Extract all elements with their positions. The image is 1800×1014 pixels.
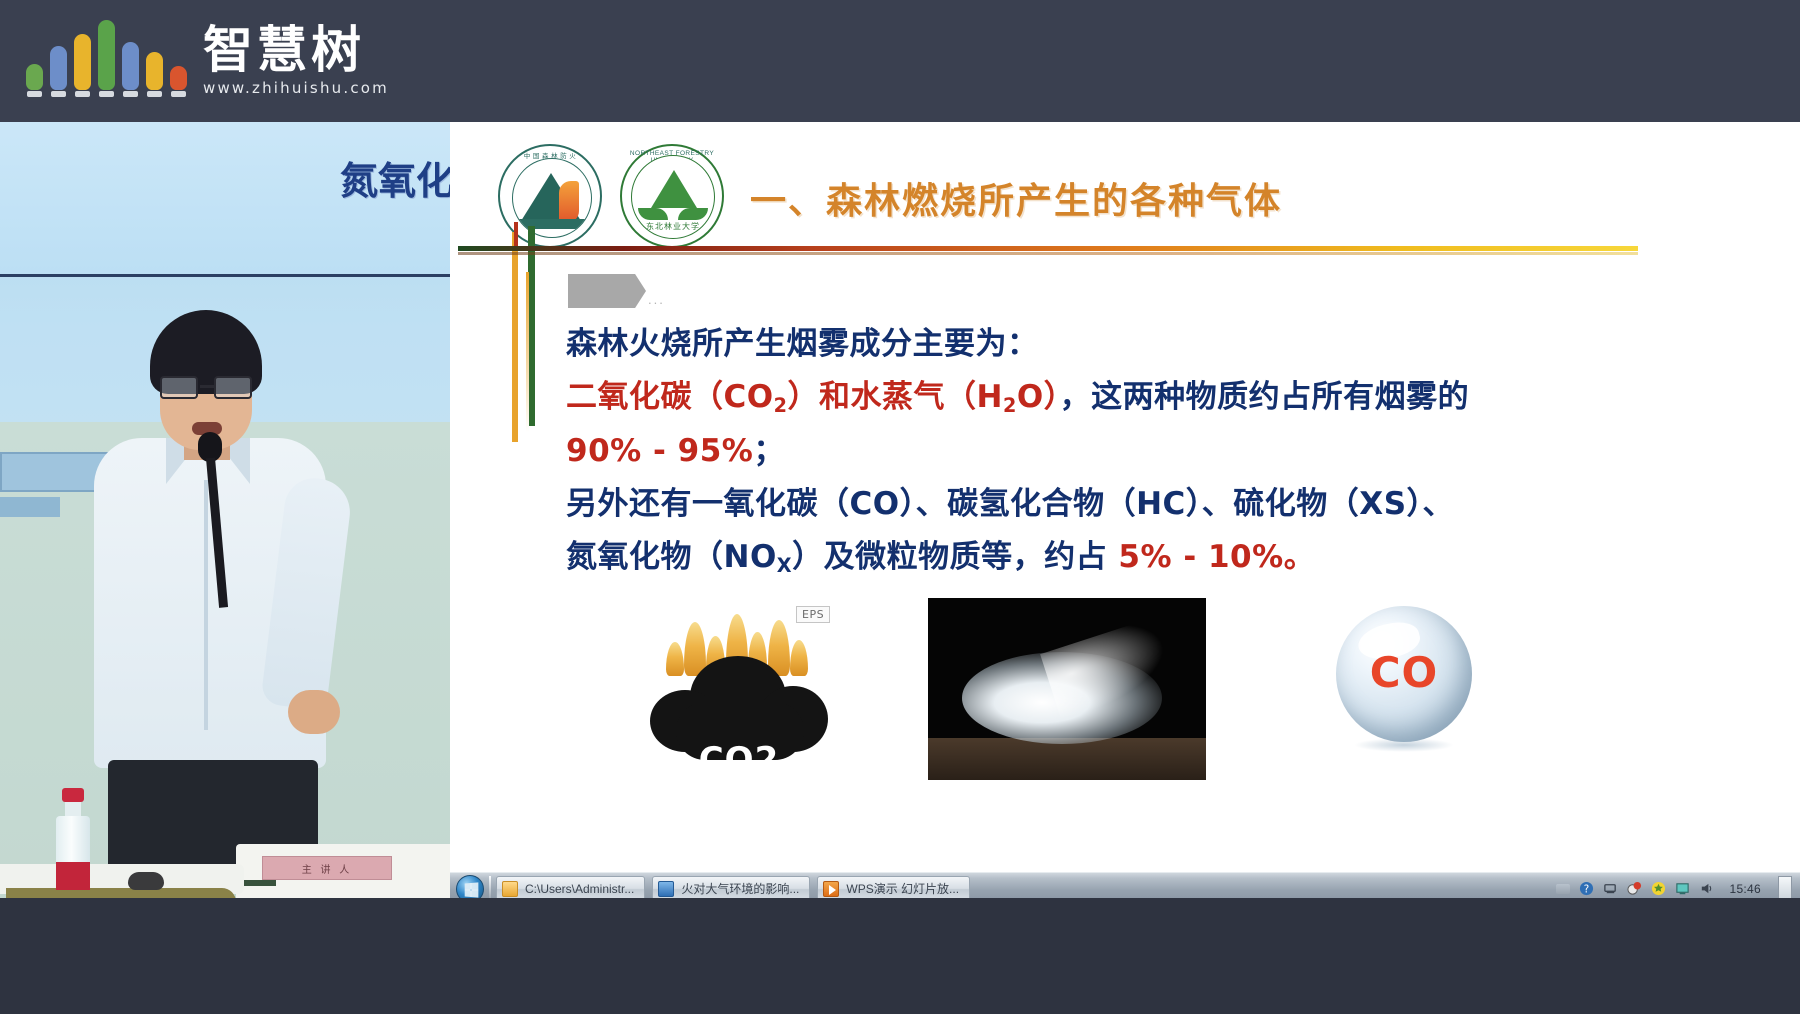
- slide-body-span: ）及微粒物质等，约占: [792, 539, 1118, 575]
- start-button-icon[interactable]: [456, 875, 484, 899]
- lecturer-video-pane[interactable]: 氮氧化: [0, 122, 450, 898]
- brand-header: 智慧树 www.zhihuishu.com: [0, 0, 1800, 122]
- taskbar-item-presentation[interactable]: 火对大气环境的影响...: [652, 876, 810, 899]
- mouse-device: [128, 872, 164, 890]
- slide-body-span: 氮氧化物（NO: [566, 539, 777, 575]
- slide-body-span: 2: [774, 394, 788, 417]
- slide-body-span: 二氧化碳（CO: [566, 379, 774, 415]
- slide-body-span: ；: [753, 433, 785, 469]
- show-hidden-icons-icon[interactable]: [1556, 884, 1570, 894]
- slide-body-span: ，这两种物质约占所有烟雾的: [1060, 379, 1470, 415]
- lecturer-hand: [288, 690, 340, 734]
- player-bottom-area: [0, 898, 1800, 1014]
- antivirus-icon[interactable]: [1627, 881, 1642, 896]
- seal-cn-name: 东北林业大学: [632, 221, 714, 232]
- slide-body-span: 90% - 95%: [566, 433, 753, 469]
- network-icon[interactable]: [1603, 881, 1618, 896]
- wps-icon: [823, 881, 839, 897]
- steam-photo: [928, 598, 1206, 780]
- show-desktop-button[interactable]: [1778, 876, 1792, 899]
- slide-body-span: 另外还有一氧化碳（CO）、碳氢化合物（HC）、硫化物（XS）、: [566, 486, 1454, 522]
- slide-title: 一、森林燃烧所产生的各种气体: [750, 172, 1282, 224]
- podium-body: [6, 888, 236, 898]
- co-label: CO: [1330, 648, 1478, 697]
- slide-body-line: 氮氧化物（NOX）及微粒物质等，约占 5% - 10%。: [566, 531, 1776, 584]
- northeast-forestry-university-seal-icon: NORTHEAST FORESTRY UNIVERSITY 东北林业大学: [620, 144, 724, 248]
- help-icon[interactable]: ?: [1579, 881, 1594, 896]
- co2-cloud-image: EPS CO2: [650, 604, 830, 774]
- taskbar-item-wps[interactable]: WPS演示 幻灯片放...: [817, 876, 970, 899]
- slide-body-span: O）: [1017, 379, 1060, 415]
- projection-screen-text: 氮氧化: [340, 150, 450, 205]
- shirt-placket: [204, 480, 208, 730]
- taskbar-separator: [489, 876, 491, 899]
- slide-body-line: 森林火烧所产生烟雾成分主要为：: [566, 318, 1776, 371]
- slide-pane[interactable]: 中 国 森 林 防 火 NORTHEAST FORESTRY UNIVERSIT…: [450, 122, 1800, 898]
- steam-ground: [928, 738, 1206, 780]
- glasses-icon: [158, 376, 254, 400]
- accent-vertical-line-orange: [512, 232, 518, 442]
- clock[interactable]: 15:46: [1729, 882, 1761, 896]
- update-icon[interactable]: [1651, 881, 1666, 896]
- slide-image-row: EPS CO2: [450, 588, 1800, 808]
- slide-body-span: 5% - 10%。: [1118, 539, 1315, 575]
- water-bottle: [56, 788, 90, 890]
- wall-panel-small: [0, 497, 60, 517]
- slide-body-text: 森林火烧所产生烟雾成分主要为：二氧化碳（CO2）和水蒸气（H2O），这两种物质约…: [566, 318, 1776, 585]
- taskbar-item-label: WPS演示 幻灯片放...: [846, 880, 959, 897]
- windows-taskbar[interactable]: C:\Users\Administr... 火对大气环境的影响... WPS演示…: [450, 872, 1800, 898]
- slide-body-span: ）和水蒸气（H: [787, 379, 1002, 415]
- slide-body-span: 2: [1003, 394, 1017, 417]
- accent-vertical-line-green: [528, 226, 535, 426]
- taskbar-item-explorer[interactable]: C:\Users\Administr...: [496, 876, 645, 899]
- presentation-icon: [658, 881, 674, 897]
- lecturer-figure: [88, 310, 328, 810]
- accent-vertical-line-fade: [526, 272, 529, 432]
- nameplate: 主 讲 人: [262, 856, 392, 880]
- bullet-tag-dots: ...: [648, 292, 665, 307]
- slide-divider-rule: [458, 246, 1638, 251]
- brand-url: www.zhihuishu.com: [203, 79, 389, 97]
- slide-body-span: 森林火烧所产生烟雾成分主要为：: [566, 326, 1039, 362]
- projection-screen: 氮氧化: [0, 122, 450, 277]
- slide-divider-rule-shadow: [458, 252, 1638, 255]
- slide-body-line: 90% - 95%；: [566, 425, 1776, 478]
- lecture-player[interactable]: 氮氧化: [0, 122, 1800, 898]
- co-bubble-image: CO: [1330, 596, 1480, 756]
- display-icon[interactable]: [1675, 881, 1690, 896]
- taskbar-item-label: C:\Users\Administr...: [525, 882, 634, 896]
- taskbar-item-label: 火对大气环境的影响...: [681, 880, 799, 897]
- co2-label: CO2: [650, 740, 828, 780]
- svg-text:?: ?: [1584, 883, 1589, 895]
- slide-body-line: 另外还有一氧化碳（CO）、碳氢化合物（HC）、硫化物（XS）、: [566, 478, 1776, 531]
- logo-tree-bars-icon: [26, 25, 187, 97]
- system-tray[interactable]: ?: [1556, 876, 1800, 899]
- smoke-cloud-icon: CO2: [650, 656, 828, 760]
- bullet-tag-shape: [568, 274, 646, 308]
- folder-icon: [502, 881, 518, 897]
- slide-body-span: X: [777, 554, 792, 577]
- app-window: 智慧树 www.zhihuishu.com 氮氧化: [0, 0, 1800, 1014]
- slide-body-line: 二氧化碳（CO2）和水蒸气（H2O），这两种物质约占所有烟雾的: [566, 371, 1776, 424]
- brand-name: 智慧树: [203, 25, 389, 75]
- volume-icon[interactable]: [1699, 881, 1714, 896]
- zhihuishu-logo[interactable]: 智慧树 www.zhihuishu.com: [26, 25, 389, 97]
- slide-header: 中 国 森 林 防 火 NORTHEAST FORESTRY UNIVERSIT…: [450, 122, 1800, 252]
- bubble-shadow: [1354, 738, 1454, 752]
